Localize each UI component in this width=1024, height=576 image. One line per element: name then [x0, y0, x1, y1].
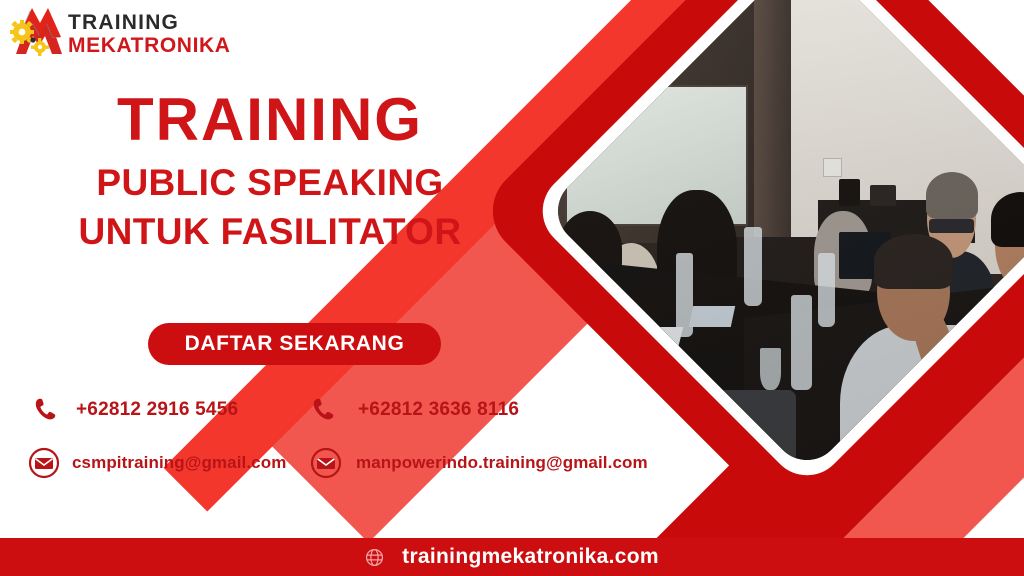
- envelope-circle-icon: [310, 447, 342, 479]
- brand-logo[interactable]: TRAINING MEKATRONIKA: [8, 4, 208, 66]
- phone-item-1[interactable]: +62812 2916 5456: [32, 395, 310, 425]
- email-address-1: csmpitraining@gmail.com: [72, 453, 286, 473]
- email-address-2: manpowerindo.training@gmail.com: [356, 453, 648, 473]
- phone-number-2: +62812 3636 8116: [358, 399, 519, 421]
- register-button[interactable]: DAFTAR SEKARANG: [148, 323, 441, 365]
- contact-block: +62812 2916 5456 +62812 3636 8116 csmpit…: [0, 395, 700, 479]
- headline-sub2: UNTUK FASILITATOR: [0, 211, 540, 252]
- poster-canvas: TRAINING MEKATRONIKA TRAINING PUBLIC SPE…: [0, 0, 1024, 576]
- gear-m-logo-icon: [8, 4, 70, 62]
- globe-icon: [365, 548, 384, 567]
- logo-text-line1: TRAINING: [68, 12, 231, 33]
- email-item-2[interactable]: manpowerindo.training@gmail.com: [310, 447, 648, 479]
- envelope-circle-icon: [28, 447, 60, 479]
- headline-sub1: PUBLIC SPEAKING: [0, 162, 540, 203]
- phone-handset-icon: [310, 395, 338, 425]
- phone-number-1: +62812 2916 5456: [76, 399, 238, 421]
- phone-row: +62812 2916 5456 +62812 3636 8116: [32, 395, 700, 425]
- email-item-1[interactable]: csmpitraining@gmail.com: [28, 447, 310, 479]
- email-row: csmpitraining@gmail.com manpowerindo.tra…: [28, 447, 700, 479]
- logo-text-line2: MEKATRONIKA: [68, 35, 231, 56]
- phone-item-2[interactable]: +62812 3636 8116: [310, 395, 519, 425]
- headline-main: TRAINING: [0, 88, 540, 152]
- phone-handset-icon: [32, 395, 60, 425]
- footer-website: trainingmekatronika.com: [402, 545, 659, 569]
- footer-bar: trainingmekatronika.com: [0, 538, 1024, 576]
- headline-block: TRAINING PUBLIC SPEAKING UNTUK FASILITAT…: [0, 88, 540, 252]
